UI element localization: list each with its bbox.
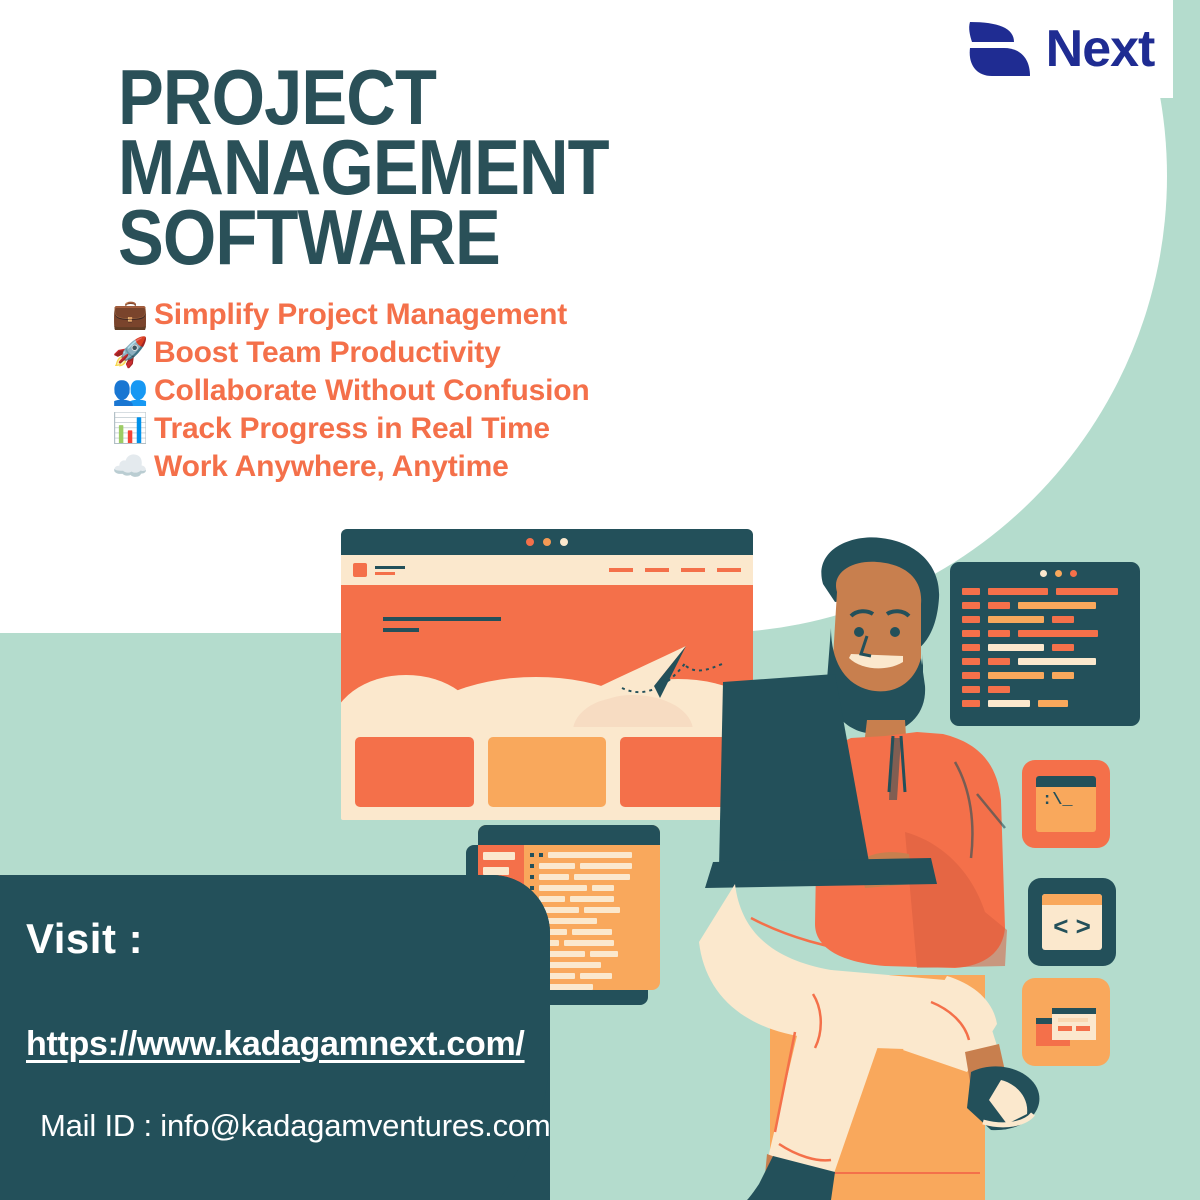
mail-id-text: Mail ID : info@kadagamventures.com — [40, 1108, 586, 1144]
site-logo-placeholder — [353, 563, 367, 577]
list-item: 🚀 Boost Team Productivity — [112, 338, 732, 376]
visit-label: Visit : — [26, 915, 586, 963]
page-title-line1: Project Management — [118, 53, 609, 211]
browser-card — [355, 737, 474, 807]
list-item: 👥 Collaborate Without Confusion — [112, 376, 732, 414]
brand-logo-text: Next — [1046, 23, 1155, 75]
rocket-icon: 🚀 — [112, 338, 146, 367]
briefcase-icon: 💼 — [112, 300, 146, 329]
window-dot-red — [1070, 570, 1077, 577]
bar-chart-icon: 📊 — [112, 414, 146, 443]
feature-list: 💼 Simplify Project Management 🚀 Boost Te… — [112, 300, 732, 490]
hero-text-placeholder — [383, 617, 501, 639]
list-item-label: Collaborate Without Confusion — [154, 376, 590, 406]
list-item-label: Simplify Project Management — [154, 300, 567, 330]
kadagam-leaf-mark-icon — [964, 18, 1038, 80]
list-item: ☁️ Work Anywhere, Anytime — [112, 452, 732, 490]
window-dot-cream — [560, 538, 568, 546]
page-title-line2: Software — [118, 202, 787, 272]
window-dot-red — [526, 538, 534, 546]
brand-logo[interactable]: Next — [945, 0, 1173, 98]
page-title: Project Management Software — [118, 62, 787, 273]
list-item-label: Work Anywhere, Anytime — [154, 452, 509, 482]
window-dot-amber — [1055, 570, 1062, 577]
contact-block: Visit : https://www.kadagamnext.com/ Mai… — [26, 915, 586, 1144]
browser-card — [488, 737, 607, 807]
character-illustration — [655, 532, 1055, 1200]
editor-titlebar — [478, 825, 660, 845]
list-item-label: Boost Team Productivity — [154, 338, 501, 368]
website-link[interactable]: https://www.kadagamnext.com/ — [26, 1025, 525, 1064]
cloud-icon: ☁️ — [112, 452, 146, 481]
window-dot-amber — [543, 538, 551, 546]
list-item-label: Track Progress in Real Time — [154, 414, 550, 444]
people-icon: 👥 — [112, 376, 146, 405]
list-item: 💼 Simplify Project Management — [112, 300, 732, 338]
site-title-placeholder — [375, 566, 405, 575]
list-item: 📊 Track Progress in Real Time — [112, 414, 732, 452]
poster-canvas: :\_ < > — [0, 0, 1200, 1200]
